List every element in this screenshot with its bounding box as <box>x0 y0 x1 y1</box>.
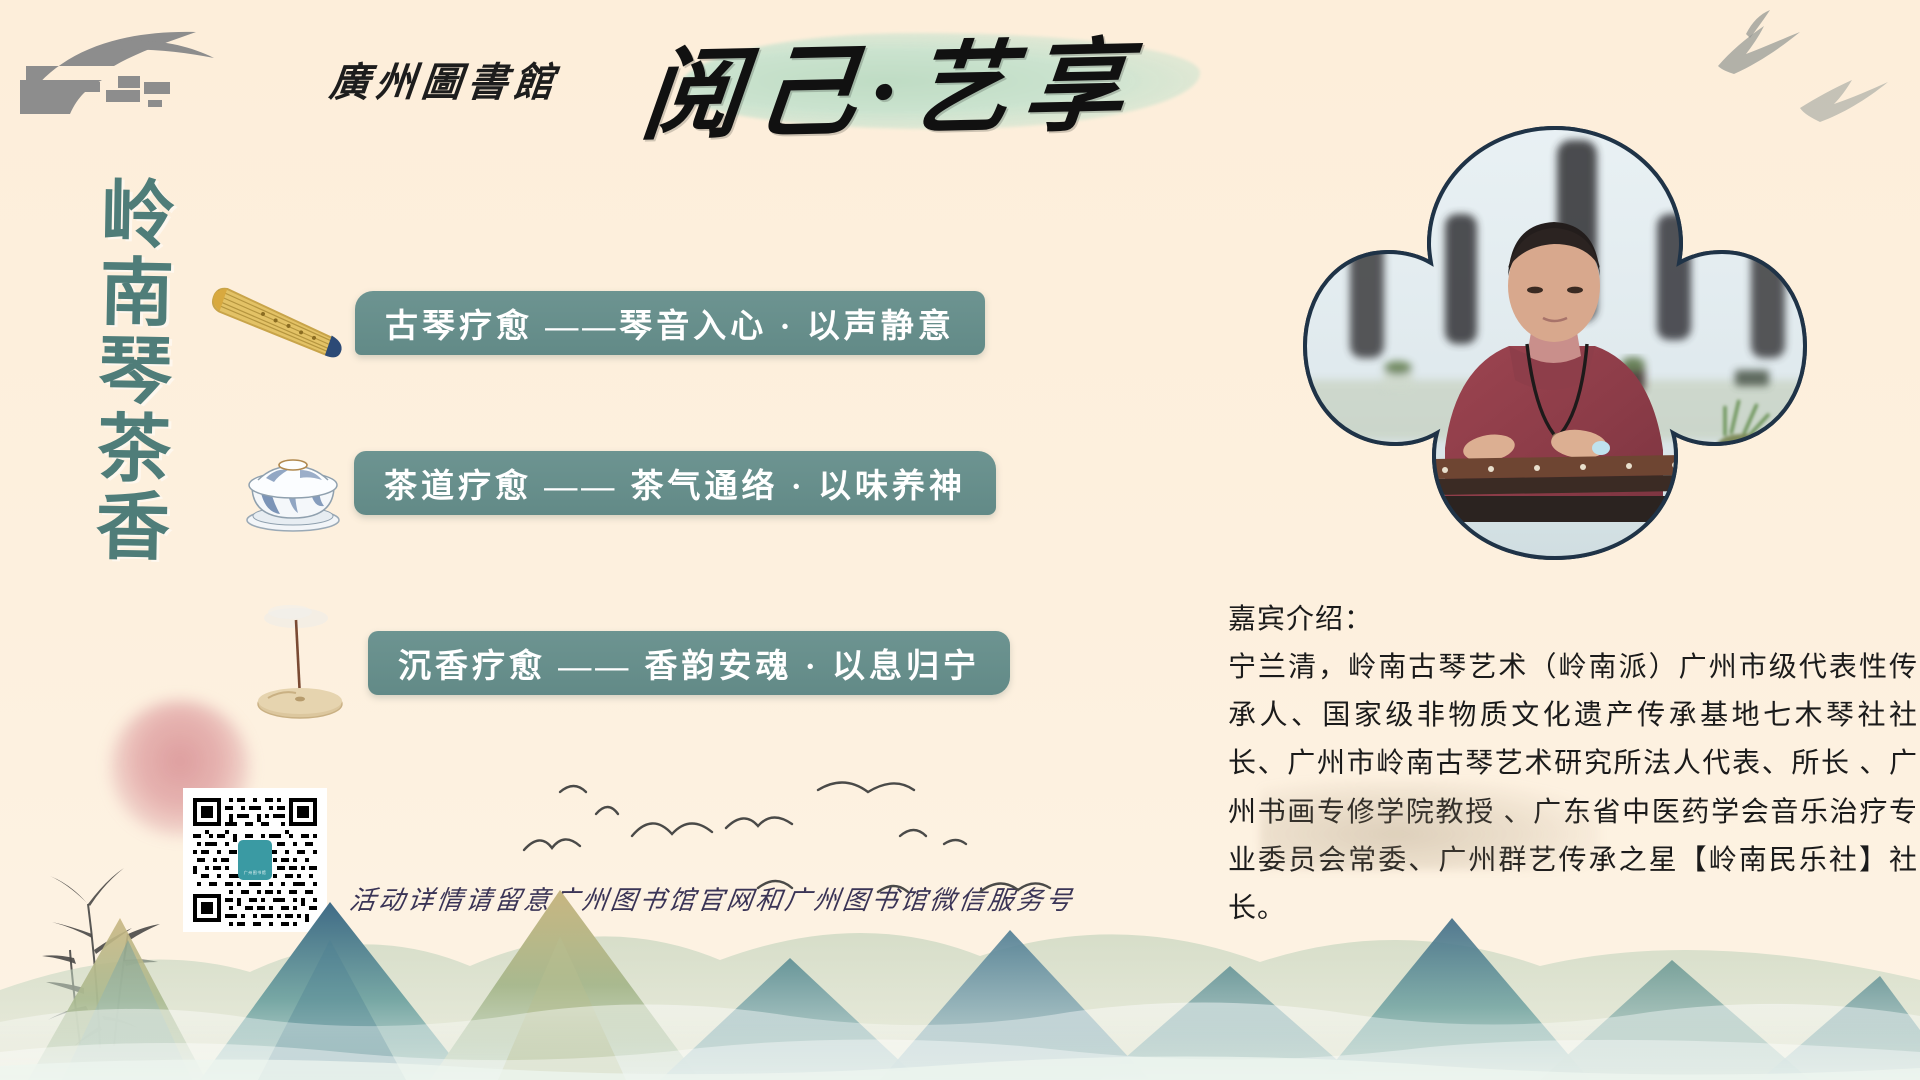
guangzhou-library-bridge-logo <box>18 22 268 132</box>
library-name: 廣州圖書館 <box>327 50 563 108</box>
topic-row: 古琴疗愈 ——琴音入心 · 以声静意 <box>205 268 985 378</box>
guqin-icon <box>205 268 355 378</box>
topic-banner: 沉香疗愈 —— 香韵安魂 · 以息归宁 <box>368 631 1010 695</box>
page-title: 阅己·艺享 <box>622 0 1259 161</box>
topic-label: 古琴疗愈 ——琴音入心 · 以声静意 <box>385 299 955 347</box>
topic-label: 茶道疗愈 —— 茶气通络 · 以味养神 <box>384 459 966 507</box>
incense-burner-icon <box>238 598 368 728</box>
watercolor-mountain-range <box>0 790 1920 1080</box>
poster-title-group: 阅己·艺享 <box>630 5 1250 155</box>
topic-row: 茶道疗愈 —— 茶气通络 · 以味养神 <box>232 428 996 538</box>
topic-label: 沉香疗愈 —— 香韵安魂 · 以息归宁 <box>398 639 980 687</box>
guqin-performer-photo <box>1295 118 1815 568</box>
topic-banner: 茶道疗愈 —— 茶气通络 · 以味养神 <box>354 451 996 515</box>
poster-canvas: 廣州圖書館 阅己·艺享 岭南琴茶香 古琴疗愈 ——琴音入心 · 以声静意 <box>0 0 1920 1080</box>
series-vertical-title: 岭南琴茶香 <box>55 174 172 566</box>
guest-intro-label: 嘉宾介绍： <box>1228 596 1918 644</box>
topic-banner: 古琴疗愈 ——琴音入心 · 以声静意 <box>355 291 985 355</box>
topic-row: 沉香疗愈 —— 香韵安魂 · 以息归宁 <box>238 598 1010 728</box>
gaiwan-teacup-icon <box>232 428 354 538</box>
